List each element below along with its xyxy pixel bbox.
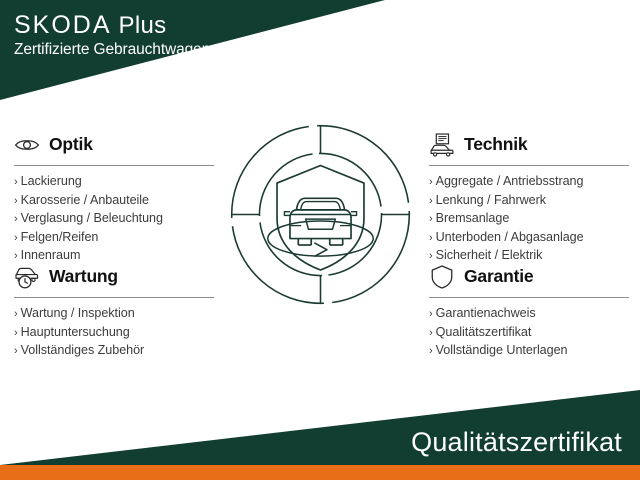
- list-item-label: Wartung / Inspektion: [21, 306, 135, 320]
- chevron-right-icon: ›: [429, 250, 433, 262]
- chevron-right-icon: ›: [429, 345, 433, 357]
- list-item-label: Vollständiges Zubehör: [21, 343, 145, 357]
- section-garantie: Garantie ›Garantienachweis ›Qualitätszer…: [429, 262, 629, 361]
- list-item: ›Aggregate / Antriebsstrang: [429, 173, 629, 192]
- section-garantie-title: Garantie: [464, 268, 533, 286]
- list-item-label: Lackierung: [21, 174, 82, 188]
- section-divider: [14, 165, 214, 166]
- list-item-label: Sicherheit / Elektrik: [436, 248, 543, 262]
- section-garantie-list: ›Garantienachweis ›Qualitätszertifikat ›…: [429, 305, 629, 361]
- car-service-clock-icon: [14, 264, 40, 290]
- list-item-label: Garantienachweis: [436, 306, 536, 320]
- list-item: ›Qualitätszertifikat: [429, 324, 629, 343]
- shield-car-360-emblem: [228, 122, 413, 307]
- brand-suffix: Plus: [119, 14, 167, 38]
- list-item: ›Karosserie / Anbauteile: [14, 192, 214, 211]
- section-optik-header: Optik: [14, 130, 214, 160]
- list-item: ›Lenkung / Fahrwerk: [429, 192, 629, 211]
- brand-name-text: SKODA: [14, 11, 112, 39]
- section-wartung: Wartung ›Wartung / Inspektion ›Hauptunte…: [14, 262, 214, 361]
- list-item: ›Lackierung: [14, 173, 214, 192]
- car-document-icon: [429, 132, 455, 158]
- chevron-right-icon: ›: [429, 232, 433, 244]
- accent-strip: [0, 465, 640, 480]
- list-item-label: Lenkung / Fahrwerk: [436, 193, 546, 207]
- chevron-right-icon: ›: [14, 308, 18, 320]
- chevron-right-icon: ›: [14, 176, 18, 188]
- brand-subtitle: Zertifizierte Gebrauchtwagen: [14, 41, 314, 58]
- footer-title: Qualitätszertifikat: [411, 427, 622, 458]
- section-optik-list: ›Lackierung ›Karosserie / Anbauteile ›Ve…: [14, 173, 214, 266]
- list-item-label: Innenraum: [21, 248, 81, 262]
- list-item: ›Wartung / Inspektion: [14, 305, 214, 324]
- list-item-label: Felgen/Reifen: [21, 230, 99, 244]
- section-optik-title: Optik: [49, 136, 93, 154]
- certificate-page: SKODA Plus Zertifizierte Gebrauchtwagen …: [0, 0, 640, 480]
- chevron-right-icon: ›: [429, 213, 433, 225]
- chevron-right-icon: ›: [14, 250, 18, 262]
- section-optik: Optik ›Lackierung ›Karosserie / Anbautei…: [14, 130, 214, 266]
- chevron-right-icon: ›: [14, 327, 18, 339]
- section-divider: [429, 165, 629, 166]
- shield-icon: [429, 264, 455, 290]
- eye-icon: [14, 132, 40, 158]
- list-item: ›Vollständige Unterlagen: [429, 342, 629, 361]
- brand-logo-line: SKODA Plus: [14, 13, 314, 37]
- list-item-label: Verglasung / Beleuchtung: [21, 211, 163, 225]
- list-item: ›Verglasung / Beleuchtung: [14, 210, 214, 229]
- section-garantie-header: Garantie: [429, 262, 629, 292]
- section-technik-header: Technik: [429, 130, 629, 160]
- section-wartung-title: Wartung: [49, 268, 118, 286]
- list-item-label: Hauptuntersuchung: [21, 325, 130, 339]
- chevron-right-icon: ›: [429, 327, 433, 339]
- chevron-right-icon: ›: [14, 232, 18, 244]
- list-item-label: Karosserie / Anbauteile: [21, 193, 149, 207]
- section-wartung-header: Wartung: [14, 262, 214, 292]
- chevron-right-icon: ›: [14, 345, 18, 357]
- section-divider: [429, 297, 629, 298]
- brand-name: SKODA: [14, 13, 112, 38]
- chevron-right-icon: ›: [429, 176, 433, 188]
- list-item: ›Bremsanlage: [429, 210, 629, 229]
- brand-logo: SKODA Plus Zertifizierte Gebrauchtwagen: [14, 13, 314, 58]
- list-item: ›Garantienachweis: [429, 305, 629, 324]
- list-item-label: Vollständige Unterlagen: [436, 343, 568, 357]
- chevron-right-icon: ›: [14, 213, 18, 225]
- chevron-right-icon: ›: [429, 308, 433, 320]
- list-item-label: Bremsanlage: [436, 211, 510, 225]
- section-wartung-list: ›Wartung / Inspektion ›Hauptuntersuchung…: [14, 305, 214, 361]
- section-divider: [14, 297, 214, 298]
- list-item: ›Hauptuntersuchung: [14, 324, 214, 343]
- chevron-right-icon: ›: [429, 195, 433, 207]
- caron-accent-icon: [13, 12, 25, 15]
- list-item: ›Vollständiges Zubehör: [14, 342, 214, 361]
- list-item: ›Unterboden / Abgasanlage: [429, 229, 629, 248]
- chevron-right-icon: ›: [14, 195, 18, 207]
- list-item: ›Felgen/Reifen: [14, 229, 214, 248]
- section-technik: Technik ›Aggregate / Antriebsstrang ›Len…: [429, 130, 629, 266]
- list-item-label: Qualitätszertifikat: [436, 325, 532, 339]
- list-item-label: Aggregate / Antriebsstrang: [436, 174, 584, 188]
- section-technik-list: ›Aggregate / Antriebsstrang ›Lenkung / F…: [429, 173, 629, 266]
- list-item-label: Unterboden / Abgasanlage: [436, 230, 584, 244]
- section-technik-title: Technik: [464, 136, 527, 154]
